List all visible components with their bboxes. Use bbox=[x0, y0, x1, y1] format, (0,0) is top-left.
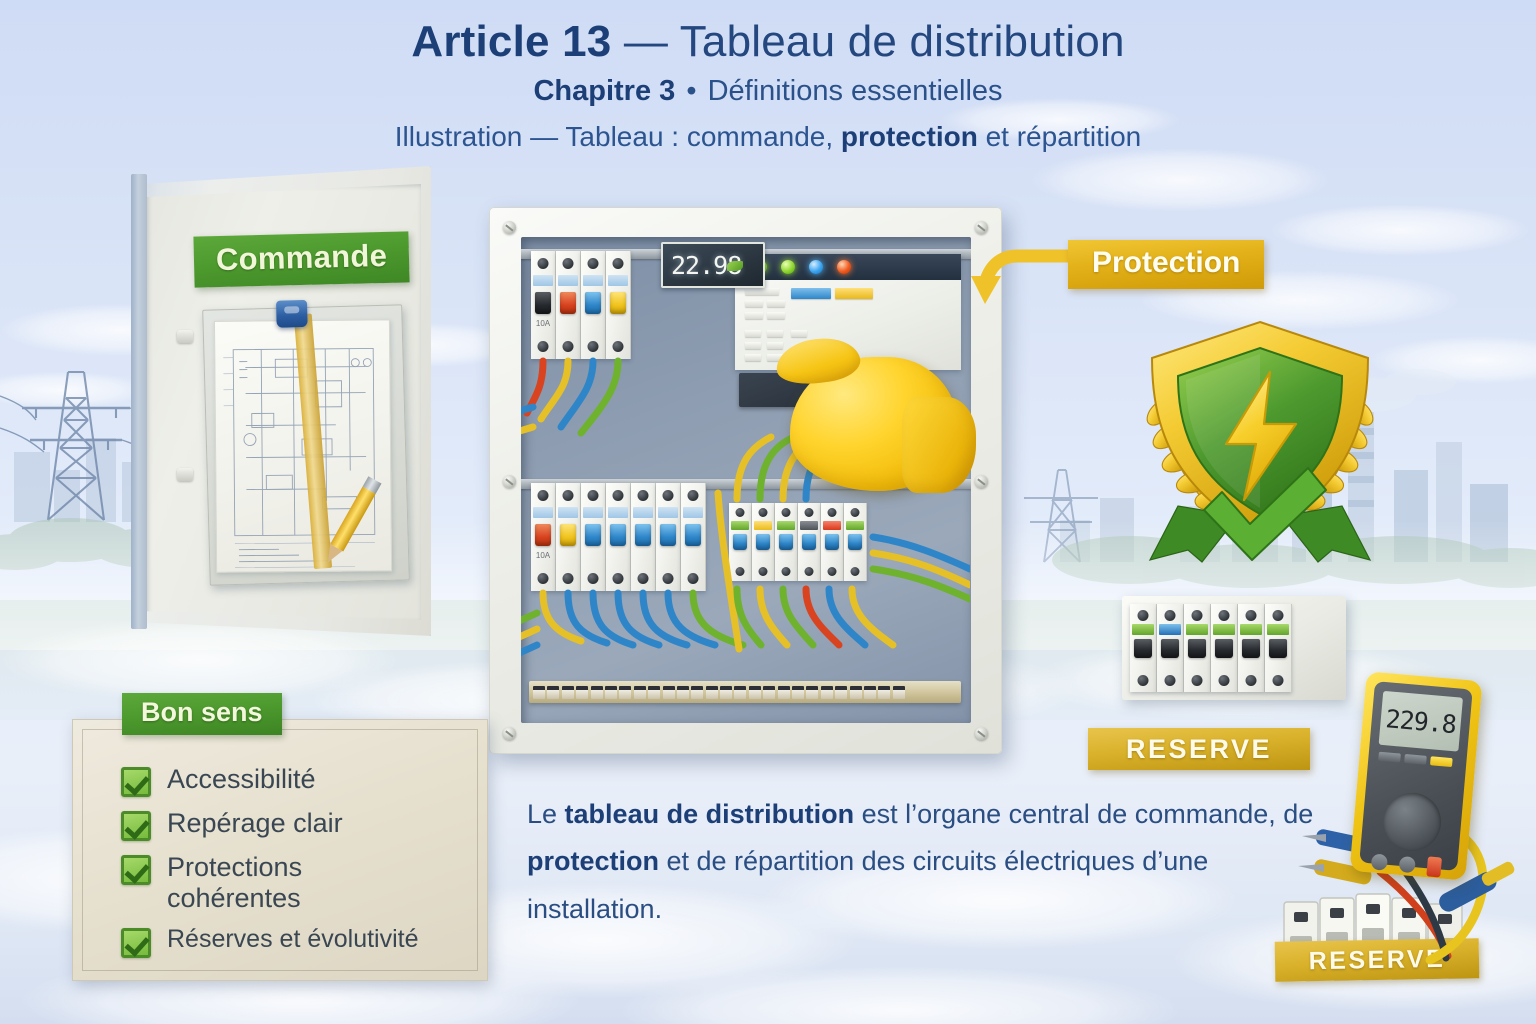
terminal-slot bbox=[619, 686, 631, 699]
multimeter-button-3[interactable] bbox=[1430, 756, 1453, 767]
multimeter-value: 229.8 bbox=[1385, 704, 1458, 739]
checklist-label: Repérage clair bbox=[167, 808, 343, 839]
terminal-bottom bbox=[1246, 675, 1257, 686]
breaker-lever[interactable] bbox=[1242, 639, 1260, 658]
caption-mid-1: est l’organe central de commande, de bbox=[854, 799, 1313, 829]
terminal-slot bbox=[547, 686, 559, 699]
breaker-lever[interactable] bbox=[1215, 639, 1233, 658]
chapter-separator: • bbox=[675, 75, 707, 107]
terminal-slot bbox=[749, 686, 761, 699]
spare-breaker-1[interactable] bbox=[1130, 604, 1157, 692]
reserve-label-top: RESERVE bbox=[1088, 728, 1310, 770]
terminal-slot bbox=[878, 686, 890, 699]
spare-breaker-4[interactable] bbox=[1211, 604, 1238, 692]
terminal-top bbox=[1273, 610, 1284, 621]
screw-bottom-left bbox=[503, 727, 516, 740]
screw-mid-right bbox=[975, 475, 988, 488]
multimeter-port-red[interactable] bbox=[1426, 856, 1442, 877]
terminal-slot bbox=[634, 686, 646, 699]
multimeter-display: 229.8 bbox=[1379, 691, 1463, 752]
protection-label: Protection bbox=[1068, 240, 1264, 289]
door-latch-lower bbox=[177, 468, 193, 481]
spare-breaker-row bbox=[1122, 596, 1346, 706]
commande-label: Commande bbox=[193, 231, 409, 287]
shield-icon bbox=[1110, 310, 1410, 570]
subtitle-emphasis: protection bbox=[841, 121, 978, 152]
breaker-labelbar bbox=[1213, 624, 1235, 635]
title-dash: — bbox=[611, 17, 679, 66]
bon-sens-panel: Accessibilité Repérage clair Protections… bbox=[72, 719, 488, 981]
terminal-bottom bbox=[1273, 675, 1284, 686]
door-hinge-strip bbox=[131, 174, 147, 629]
title-subject: Tableau de distribution bbox=[680, 17, 1125, 66]
illustration-canvas: Article 13 — Tableau de distribution Cha… bbox=[0, 0, 1536, 1024]
terminal-slot bbox=[806, 686, 818, 699]
terminal-top bbox=[1219, 610, 1230, 621]
terminal-block bbox=[529, 681, 961, 703]
list-item[interactable]: Protections cohérentes bbox=[121, 852, 473, 914]
terminal-top bbox=[1246, 610, 1257, 621]
terminal-bottom bbox=[1138, 675, 1149, 686]
gloved-hand-icon bbox=[770, 333, 970, 503]
terminal-slot bbox=[835, 686, 847, 699]
checklist-label: Accessibilité bbox=[167, 764, 316, 795]
caption-emphasis-2: protection bbox=[527, 846, 659, 876]
chapter-number: Chapitre 3 bbox=[533, 75, 675, 107]
checklist-label: Réserves et évolutivité bbox=[167, 925, 419, 954]
clipboard-icon bbox=[202, 304, 410, 585]
caption-text: Le tableau de distribution est l’organe … bbox=[527, 791, 1327, 933]
terminal-slot bbox=[706, 686, 718, 699]
caption-emphasis-1: tableau de distribution bbox=[565, 799, 855, 829]
terminal-slot bbox=[605, 686, 617, 699]
terminal-slot bbox=[821, 686, 833, 699]
terminal-bottom bbox=[1165, 675, 1176, 686]
breaker-labelbar bbox=[1186, 624, 1208, 635]
terminal-slot bbox=[648, 686, 660, 699]
breaker-labelbar bbox=[1132, 624, 1154, 635]
terminal-bottom bbox=[1192, 675, 1203, 686]
multimeter-face: 229.8 bbox=[1359, 681, 1472, 871]
terminal-top bbox=[1138, 610, 1149, 621]
screw-bottom-right bbox=[975, 727, 988, 740]
terminal-top bbox=[1165, 610, 1176, 621]
clipboard-clamp bbox=[276, 300, 308, 328]
list-item[interactable]: Accessibilité bbox=[121, 764, 473, 797]
caption-pre: Le bbox=[527, 799, 565, 829]
glove-cuff bbox=[902, 397, 976, 493]
breaker-lever[interactable] bbox=[1269, 639, 1287, 658]
terminal-slot bbox=[763, 686, 775, 699]
terminal-slot bbox=[677, 686, 689, 699]
checkbox-checked-icon[interactable] bbox=[121, 811, 151, 841]
terminal-slot bbox=[720, 686, 732, 699]
multimeter-button-2[interactable] bbox=[1404, 754, 1427, 765]
terminal-slot bbox=[893, 686, 905, 699]
breaker-labelbar bbox=[1240, 624, 1262, 635]
spare-breaker-5[interactable] bbox=[1238, 604, 1265, 692]
multimeter-button-1[interactable] bbox=[1378, 752, 1401, 763]
terminal-bottom bbox=[1219, 675, 1230, 686]
page-title: Article 13 — Tableau de distribution bbox=[0, 16, 1536, 68]
screw-top-left bbox=[503, 221, 516, 234]
door-latch-upper bbox=[177, 330, 193, 343]
header-block: Article 13 — Tableau de distribution Cha… bbox=[0, 16, 1536, 158]
breaker-lever[interactable] bbox=[1134, 639, 1152, 658]
multimeter-dial[interactable] bbox=[1381, 790, 1444, 853]
subtitle-post: et répartition bbox=[978, 121, 1141, 152]
subtitle-pre: Illustration — Tableau : commande, bbox=[395, 121, 841, 152]
checkbox-checked-icon[interactable] bbox=[121, 855, 151, 885]
illustration-subtitle: Illustration — Tableau : commande, prote… bbox=[0, 116, 1536, 158]
list-item[interactable]: Repérage clair bbox=[121, 808, 473, 841]
checkbox-checked-icon[interactable] bbox=[121, 767, 151, 797]
checkbox-checked-icon[interactable] bbox=[121, 928, 151, 958]
breaker-labelbar bbox=[1267, 624, 1289, 635]
spare-breaker-2[interactable] bbox=[1157, 604, 1184, 692]
terminal-slot bbox=[591, 686, 603, 699]
title-article-number: Article 13 bbox=[411, 17, 611, 66]
terminal-slot bbox=[850, 686, 862, 699]
terminal-slot bbox=[734, 686, 746, 699]
terminal-slot bbox=[792, 686, 804, 699]
spare-breaker-3[interactable] bbox=[1184, 604, 1211, 692]
list-item[interactable]: Réserves et évolutivité bbox=[121, 925, 473, 958]
terminal-slot bbox=[576, 686, 588, 699]
terminal-slot bbox=[864, 686, 876, 699]
breaker-lever[interactable] bbox=[1161, 639, 1179, 658]
terminal-slot bbox=[562, 686, 574, 699]
multimeter-icon: 229.8 bbox=[1350, 671, 1483, 880]
breaker-labelbar bbox=[1159, 624, 1181, 635]
screw-mid-left bbox=[503, 475, 516, 488]
terminal-slot bbox=[533, 686, 545, 699]
terminal-slot bbox=[691, 686, 703, 699]
checklist-label: Protections cohérentes bbox=[167, 852, 387, 914]
breaker-lever[interactable] bbox=[1188, 639, 1206, 658]
terminal-top bbox=[1192, 610, 1203, 621]
bon-sens-title: Bon sens bbox=[122, 693, 282, 735]
chapter-line: Chapitre 3 • Définitions essentielles bbox=[0, 70, 1536, 112]
terminal-slot bbox=[778, 686, 790, 699]
bon-sens-checklist: Accessibilité Repérage clair Protections… bbox=[121, 764, 473, 958]
terminal-slot bbox=[663, 686, 675, 699]
chapter-subject: Définitions essentielles bbox=[708, 75, 1003, 107]
spare-breaker-6[interactable] bbox=[1265, 604, 1292, 692]
